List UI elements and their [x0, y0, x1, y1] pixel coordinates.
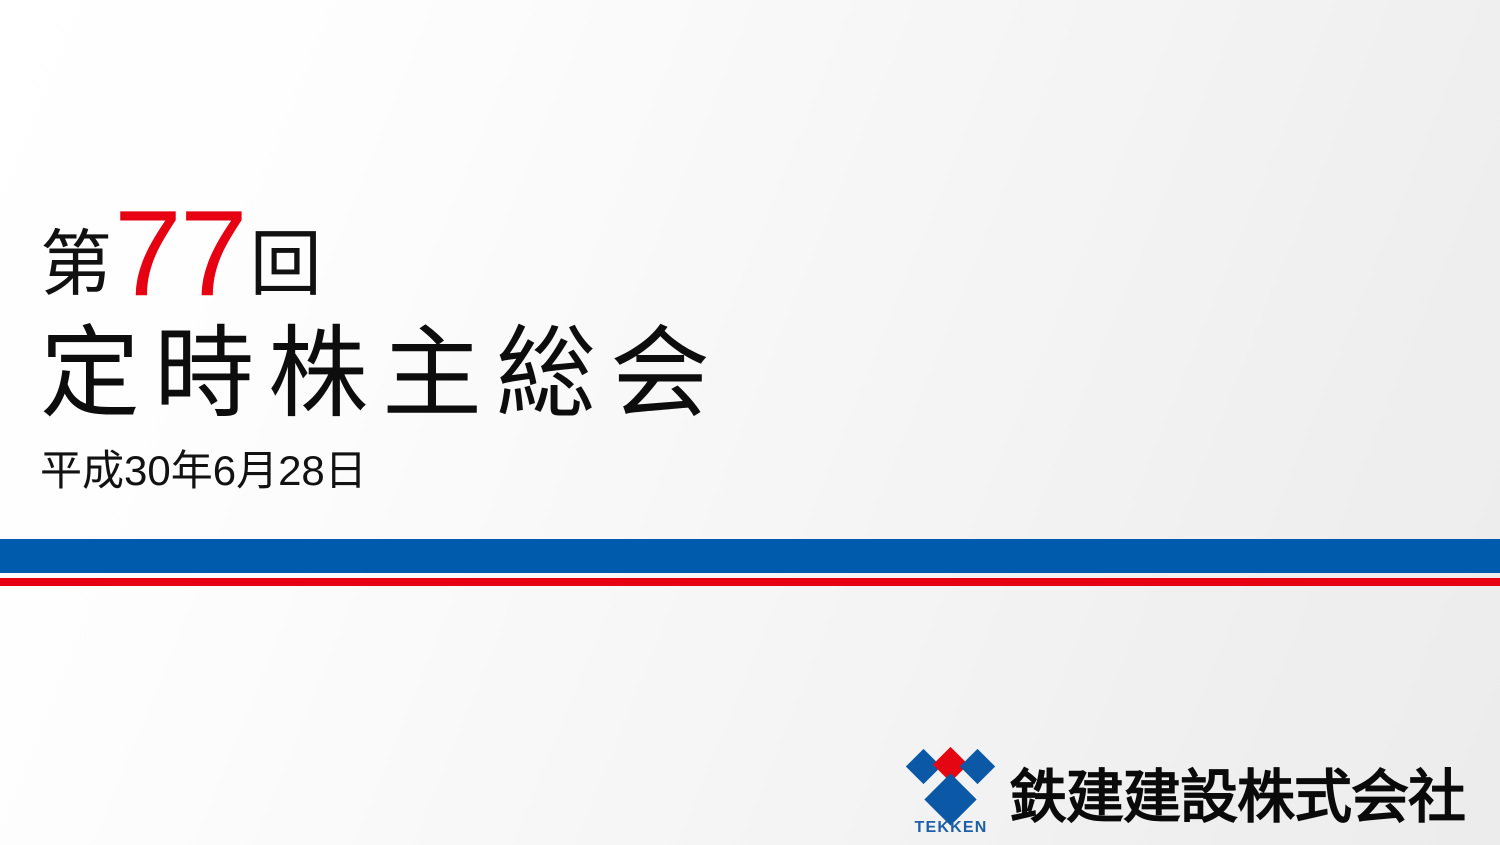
- tekken-diamond-mark-icon: TEKKEN: [905, 748, 997, 840]
- title-slide: 第 77 回 定時株主総会 平成30年6月28日 TEKKEN 鉄建建設株式会社: [0, 0, 1500, 845]
- red-accent-band: [0, 578, 1500, 586]
- logo-wordmark: TEKKEN: [905, 820, 997, 836]
- ordinal-suffix: 回: [250, 229, 322, 301]
- ordinal-number: 77: [114, 192, 246, 314]
- blue-accent-band: [0, 539, 1500, 573]
- meeting-ordinal-line: 第 77 回: [40, 186, 940, 298]
- diamond-top-right-icon: [960, 749, 995, 784]
- company-logo: TEKKEN 鉄建建設株式会社: [905, 748, 1465, 840]
- ordinal-prefix: 第: [40, 229, 112, 301]
- page-title: 定時株主総会: [40, 320, 940, 428]
- title-block: 第 77 回 定時株主総会 平成30年6月28日: [40, 186, 940, 492]
- diamond-bottom-icon: [924, 773, 976, 825]
- meeting-date: 平成30年6月28日: [40, 450, 940, 492]
- company-name: 鉄建建設株式会社: [1009, 769, 1465, 827]
